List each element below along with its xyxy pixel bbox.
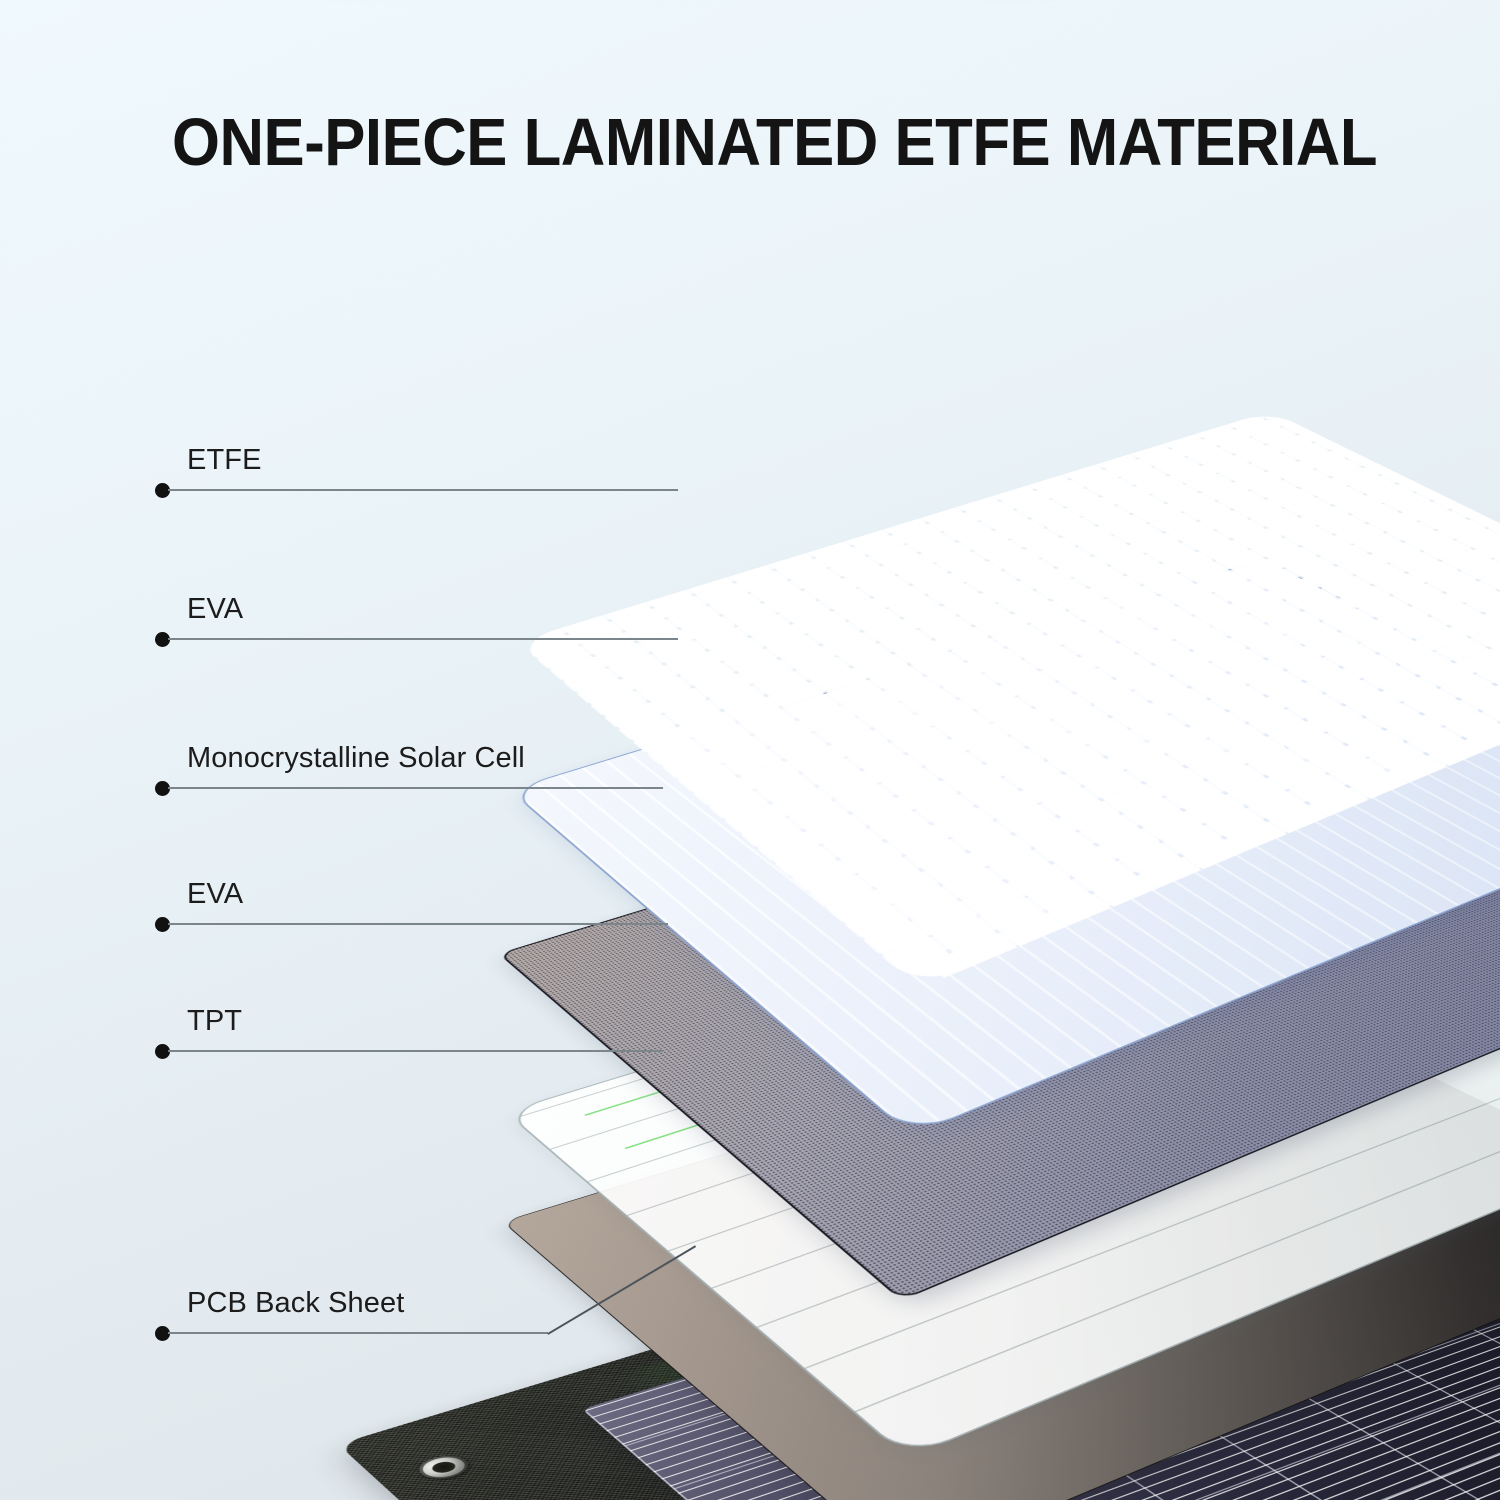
- callout-label: Monocrystalline Solar Cell: [187, 742, 525, 775]
- callout-leader-line: [168, 489, 678, 491]
- callout-leader-line: [168, 787, 663, 789]
- callout-leader-line: [168, 638, 678, 640]
- callout-label: EVA: [187, 878, 243, 911]
- callout-label: EVA: [187, 593, 243, 626]
- callout-leader-line: [168, 1332, 548, 1334]
- callout-leader-line: [168, 1050, 663, 1052]
- grommet-eyelet-icon: [412, 1452, 476, 1484]
- callout-label: PCB Back Sheet: [187, 1287, 404, 1320]
- page-title: ONE-PIECE LAMINATED ETFE MATERIAL: [172, 104, 1377, 181]
- callout-leader-line: [168, 923, 668, 925]
- callout-label: TPT: [187, 1005, 242, 1038]
- callout-label: ETFE: [187, 444, 262, 477]
